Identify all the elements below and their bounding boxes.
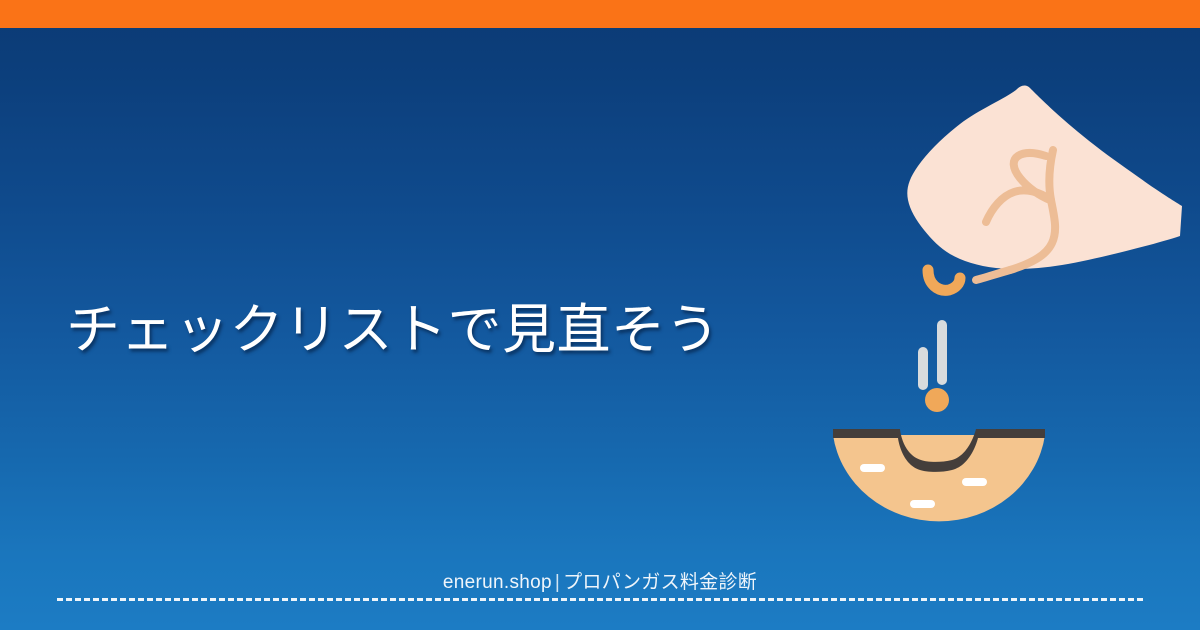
footer-tagline: プロパンガス料金診断: [563, 572, 757, 593]
bowl-mark-center: [910, 500, 935, 508]
top-accent-bar: [0, 0, 1200, 28]
hand-coin-bowl-illustration: [800, 80, 1200, 560]
bowl-mark-right: [962, 478, 987, 486]
motion-streak-short: [918, 347, 928, 390]
hand-icon: [907, 86, 1182, 280]
page-title: チェックリストで見直そう: [66, 299, 766, 361]
coin-crescent-icon: [928, 270, 960, 290]
footer-divider: [57, 598, 1143, 601]
footer-attribution: enerun.shop|プロパンガス料金診断: [0, 571, 1200, 595]
motion-streak-tall: [937, 320, 947, 385]
coin-circle-icon: [925, 388, 949, 412]
bowl-body: [833, 435, 1045, 521]
hand-palm-shape: [907, 86, 1182, 269]
footer-site-name: enerun.shop: [443, 572, 552, 593]
bowl-mark-left: [860, 464, 885, 472]
slide-canvas: チェックリストで見直そう: [0, 0, 1200, 630]
footer-separator: |: [552, 571, 563, 595]
hand-thumb-tip-line: [976, 270, 1010, 280]
